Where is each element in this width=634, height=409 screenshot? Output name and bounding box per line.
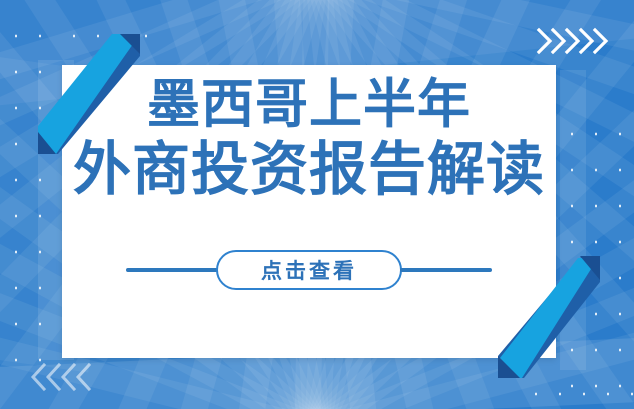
chevron-left-icon-group bbox=[28, 360, 104, 394]
dot-grid-top-left bbox=[58, 14, 168, 54]
dot-grid-bottom bbox=[520, 372, 634, 409]
title-line-1: 墨西哥上半年 bbox=[62, 78, 556, 132]
title-line-2: 外商投资报告解读 bbox=[62, 140, 556, 199]
cta-rule-right bbox=[400, 268, 492, 272]
dot-grid-bottom-right bbox=[556, 112, 634, 409]
chevron-right-icon-group bbox=[536, 24, 610, 58]
view-button[interactable]: 点击查看 bbox=[216, 250, 402, 290]
poster-title: 墨西哥上半年 外商投资报告解读 bbox=[62, 78, 556, 199]
right-rail-block bbox=[560, 70, 586, 370]
promo-poster: 墨西哥上半年 外商投资报告解读 点击查看 bbox=[0, 0, 634, 409]
dot-grid-left bbox=[0, 14, 58, 384]
cta-rule-left bbox=[126, 268, 218, 272]
cta-row: 点击查看 bbox=[62, 248, 556, 292]
